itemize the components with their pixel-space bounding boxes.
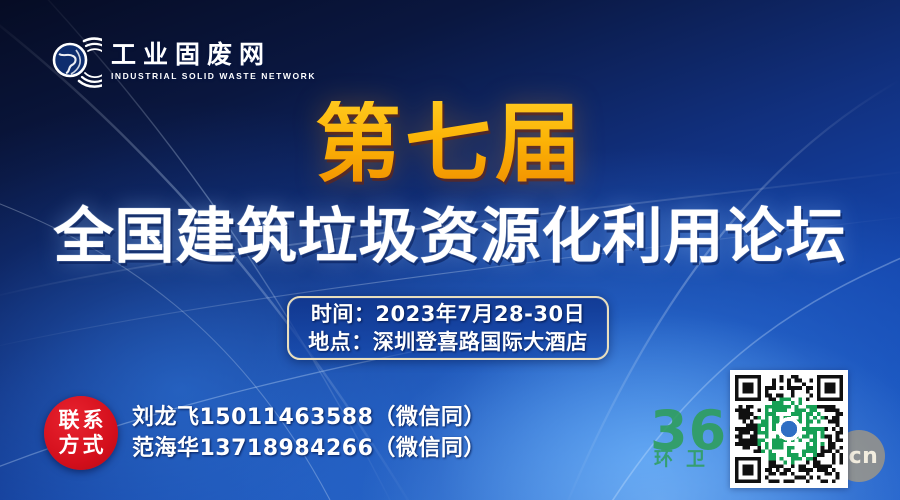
site-logo[interactable]: 工业固废网 INDUSTRIAL SOLID WASTE NETWORK [46, 32, 316, 88]
contact-person-1: 刘龙飞15011463588（微信同） [132, 403, 486, 432]
contact-block: 联系 方式 刘龙飞15011463588（微信同） 范海华13718984266… [44, 396, 486, 470]
event-banner: 工业固废网 INDUSTRIAL SOLID WASTE NETWORK 第七届… [0, 0, 900, 500]
logo-english-name: INDUSTRIAL SOLID WASTE NETWORK [111, 72, 316, 81]
globe-swoosh-icon [46, 32, 102, 88]
logo-chinese-name: 工业固废网 [111, 42, 316, 67]
watermark-subtitle: 环卫 [654, 450, 718, 469]
contact-badge: 联系 方式 [44, 396, 118, 470]
event-place: 地点：深圳登喜路国际大酒店 [308, 329, 588, 355]
headline-edition: 第七届 [0, 101, 900, 187]
qr-code-icon[interactable] [730, 370, 848, 488]
forum-title: 全国建筑垃圾资源化利用论坛 [0, 206, 900, 269]
contact-badge-line2: 方式 [56, 433, 107, 458]
contact-person-2: 范海华13718984266（微信同） [132, 434, 486, 463]
event-info-box: 时间：2023年7月28-30日 地点：深圳登喜路国际大酒店 [287, 296, 609, 360]
event-time: 时间：2023年7月28-30日 [311, 301, 585, 327]
contact-badge-line1: 联系 [56, 408, 107, 433]
